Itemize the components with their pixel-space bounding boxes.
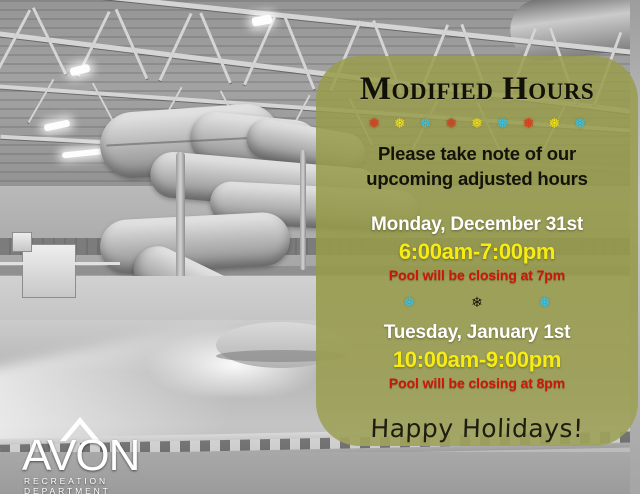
avon-tagline: RECREATION DEPARTMENT xyxy=(24,476,172,494)
schedule-time-value: 10:00am-9:00pm xyxy=(326,347,628,373)
snowflake-icon-red: ❅ xyxy=(445,116,457,130)
schedule-day-label: Tuesday, January 1st xyxy=(326,322,628,344)
holiday-greeting: Happy Holidays! xyxy=(325,414,628,443)
schedule-time-value: 6:00am-7:00pm xyxy=(326,239,628,265)
notice-subtitle-line2: upcoming adjusted hours xyxy=(326,167,628,191)
snowflake-icon-yellow: ❅ xyxy=(394,116,406,130)
schedule-entry-tuesday: Tuesday, January 1st 10:00am-9:00pm Pool… xyxy=(326,322,628,391)
snowflake-icon-cyan: ❅ xyxy=(403,295,415,309)
snowflake-icon-dark: ❄ xyxy=(471,295,483,309)
waterslide-support-column xyxy=(300,150,306,270)
snowflake-icon-cyan: ❅ xyxy=(574,116,586,130)
panel-content: Modified Hours ❅ ❅ ❅ ❅ ❅ ❅ ❅ ❅ ❅ Please … xyxy=(316,73,638,443)
schedule-closing-note: Pool will be closing at 8pm xyxy=(326,375,628,391)
snowflake-divider-top: ❅ ❅ ❅ ❅ ❅ ❅ ❅ ❅ ❅ xyxy=(326,115,628,131)
page-title: Modified Hours xyxy=(326,73,628,106)
snowflake-icon-cyan: ❅ xyxy=(539,295,551,309)
schedule-entry-monday: Monday, December 31st 6:00am-7:00pm Pool… xyxy=(326,214,628,283)
snowflake-icon-yellow: ❅ xyxy=(471,116,483,130)
snowflake-divider-middle: ❅ ❄ ❅ xyxy=(326,294,628,310)
equipment-box-small xyxy=(12,232,32,252)
poster-root: AVON RECREATION DEPARTMENT Modified Hour… xyxy=(0,0,640,494)
schedule-closing-note: Pool will be closing at 7pm xyxy=(326,267,628,283)
avon-wordmark: AVON xyxy=(22,434,139,478)
avon-logo: AVON RECREATION DEPARTMENT xyxy=(22,416,172,482)
equipment-box xyxy=(22,244,76,298)
snowflake-icon-red: ❅ xyxy=(523,116,535,130)
snowflake-icon-red: ❅ xyxy=(368,116,380,130)
schedule-day-label: Monday, December 31st xyxy=(326,214,628,236)
snowflake-icon-yellow: ❅ xyxy=(548,116,560,130)
modified-hours-panel: Modified Hours ❅ ❅ ❅ ❅ ❅ ❅ ❅ ❅ ❅ Please … xyxy=(316,56,638,446)
snowflake-icon-cyan: ❅ xyxy=(497,116,509,130)
notice-subtitle-line1: Please take note of our xyxy=(326,142,628,166)
snowflake-icon-cyan: ❅ xyxy=(420,116,432,130)
deck-rail xyxy=(0,262,120,265)
